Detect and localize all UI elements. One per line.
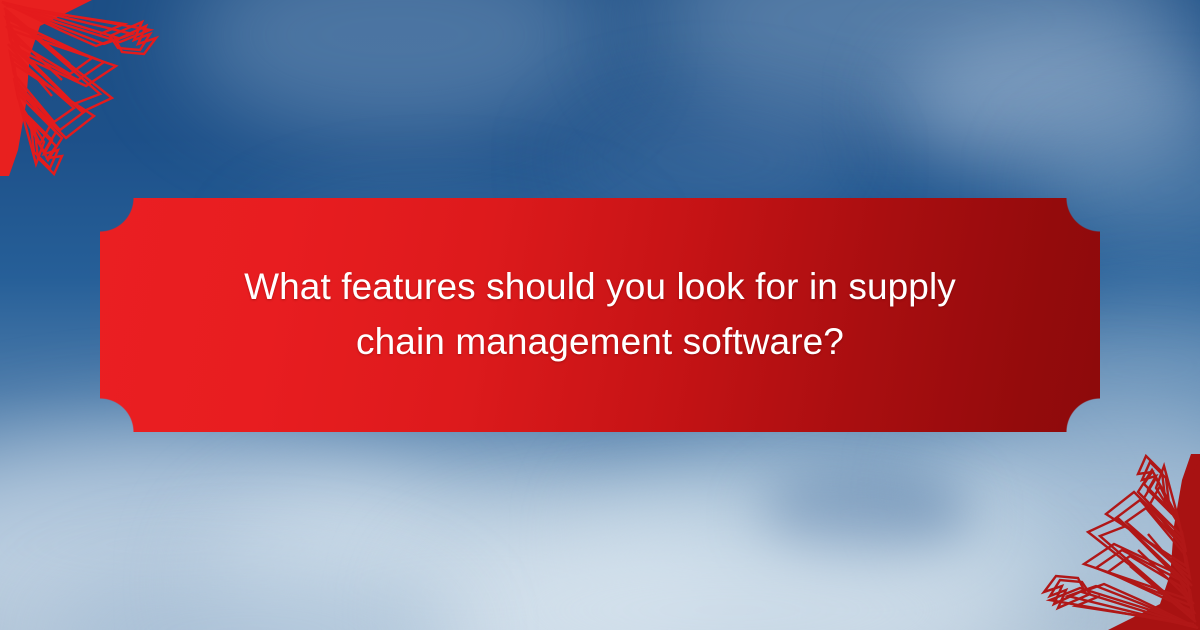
headline-banner: What features should you look for in sup… xyxy=(100,198,1100,432)
headline-text: What features should you look for in sup… xyxy=(100,198,1100,432)
poster-canvas: What features should you look for in sup… xyxy=(0,0,1200,630)
